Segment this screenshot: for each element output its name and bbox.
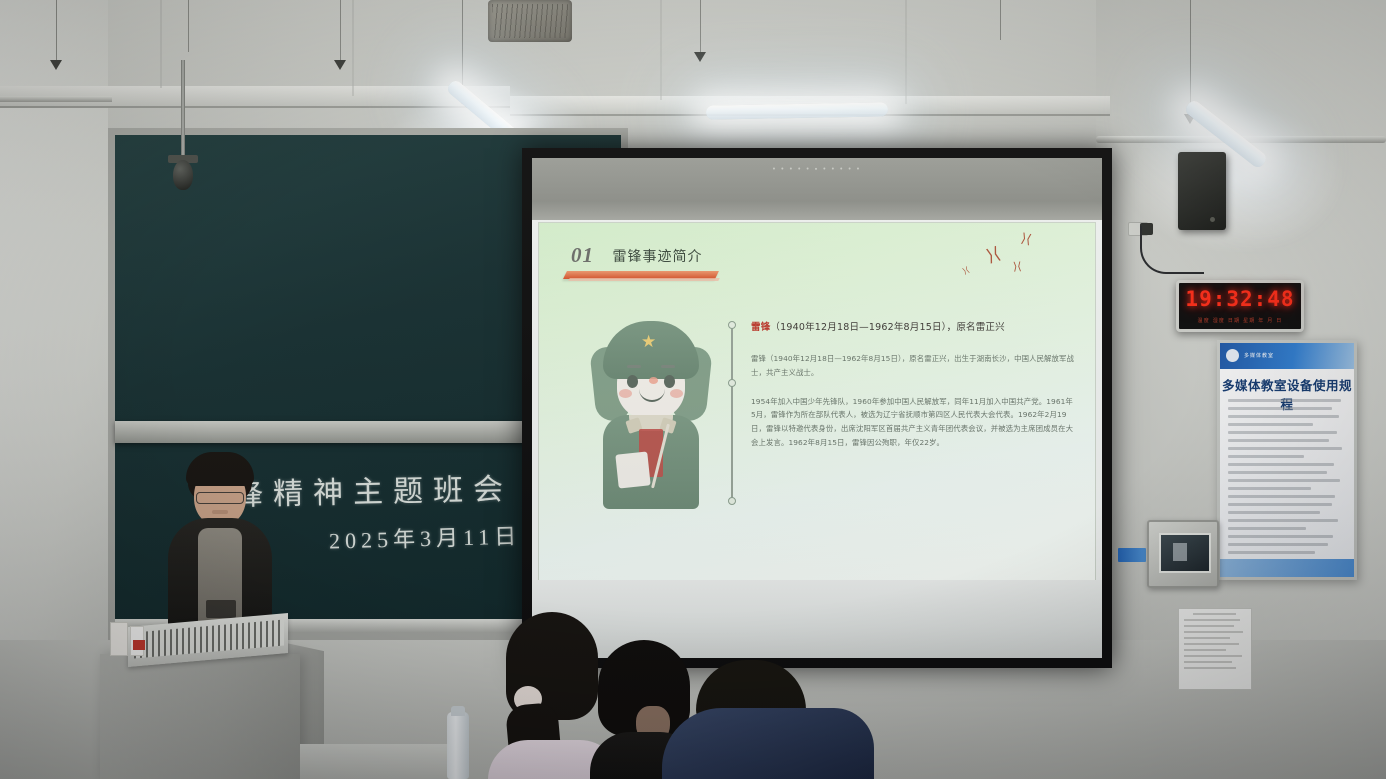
light-wire-2 xyxy=(188,0,189,52)
slide-title-underline-shadow xyxy=(568,278,719,281)
student3-jacket xyxy=(662,708,874,779)
av-control-panel[interactable] xyxy=(1147,520,1219,588)
panel-thumbnail-icon xyxy=(1173,543,1187,561)
eyebrow-right xyxy=(661,365,675,368)
slide-paragraph-2: 1954年加入中国少年先锋队，1960年参加中国人民解放军，同年11月加入中国共… xyxy=(751,395,1075,450)
nose xyxy=(649,377,658,384)
water-bottle-cap xyxy=(451,706,465,716)
red-star-icon: ★ xyxy=(641,333,656,350)
digital-wall-clock: 19:32:48 温度 湿度 日期 星期 年 月 日 xyxy=(1176,280,1304,332)
lead-rest-text: （1940年12月18日—1962年8月15日），原名雷正兴 xyxy=(770,322,1004,333)
slide-lead-line: 雷锋（1940年12月18日—1962年8月15日），原名雷正兴 xyxy=(751,321,1075,335)
speaker-cable xyxy=(1140,226,1204,274)
notebook-page xyxy=(615,451,650,488)
slide-section-number: 01 xyxy=(571,243,594,268)
ceiling-seam-3 xyxy=(660,0,662,100)
poster-org-label: 多媒体教室 xyxy=(1244,352,1274,359)
front-desk-surface xyxy=(300,744,450,779)
lead-highlight-name: 雷锋 xyxy=(751,322,770,333)
clock-subline-display: 温度 湿度 日期 星期 年 月 日 xyxy=(1179,317,1301,324)
projection-screen-frame: • • • • • ▪ • • • • • 01 雷锋事迹简介 ⟩⟨ ⟩⟨ ⟩⟨… xyxy=(522,148,1112,668)
glasses-icon xyxy=(196,492,244,504)
podium-red-label xyxy=(133,640,145,650)
poster-header-band: 多媒体教室 xyxy=(1220,343,1354,369)
wall-notice-sheet xyxy=(1178,608,1252,690)
hanging-microphone xyxy=(173,160,193,190)
water-bottle xyxy=(447,712,469,779)
eye-right xyxy=(664,375,675,388)
blush-right xyxy=(670,389,683,398)
bird-icon-1: ⟩⟨ xyxy=(1020,232,1033,247)
speaker-indicator-dot xyxy=(1210,217,1215,222)
screen-status-strip: • • • • • ▪ • • • • • xyxy=(773,166,861,173)
projection-screen-surface[interactable]: • • • • • ▪ • • • • • 01 雷锋事迹简介 ⟩⟨ ⟩⟨ ⟩⟨… xyxy=(532,158,1102,658)
timeline-node-2 xyxy=(728,379,736,387)
wall-label-tag xyxy=(1118,548,1146,562)
timeline-node-3 xyxy=(728,497,736,505)
wall-conduit-left xyxy=(0,96,112,102)
eye-left xyxy=(627,375,638,388)
fan-blade-grid xyxy=(492,4,568,38)
regulations-poster: 多媒体教室 多媒体教室设备使用规程 xyxy=(1217,340,1357,580)
podium-object-1 xyxy=(110,622,128,656)
slide-section-title: 雷锋事迹简介 xyxy=(612,246,702,266)
ceiling-seam-1 xyxy=(160,0,162,88)
flying-birds-decoration: ⟩⟨ ⟩⟨ ⟩⟨ ⟩⟨ xyxy=(961,231,1061,289)
presentation-slide: 01 雷锋事迹简介 ⟩⟨ ⟩⟨ ⟩⟨ ⟩⟨ ★ xyxy=(538,222,1096,588)
bird-icon-2: ⟩⟨ xyxy=(985,245,1003,265)
tshirt-graphic xyxy=(206,600,236,618)
blush-left xyxy=(619,389,632,398)
ceiling-seam-2 xyxy=(352,0,354,96)
light-wire-3 xyxy=(340,0,341,62)
student-navy-jacket xyxy=(662,660,874,779)
slide-paragraph-1: 雷锋（1940年12月18日—1962年8月15日），原名雷正兴，出生于湖南长沙… xyxy=(751,352,1075,379)
blackboard-date-text: 2025年3月11日 xyxy=(329,518,522,555)
light-wire-6 xyxy=(1000,0,1001,40)
presenter-mouth xyxy=(212,510,228,514)
lectern xyxy=(100,654,300,779)
poster-footer-band xyxy=(1220,559,1354,577)
wall-speaker xyxy=(1178,152,1226,230)
panel-display xyxy=(1159,533,1211,573)
lei-feng-illustration: ★ xyxy=(591,319,711,509)
light-wire-4 xyxy=(462,0,463,96)
clock-time-display: 19:32:48 xyxy=(1179,287,1301,311)
ceiling-fan xyxy=(488,0,572,42)
blackboard-title-text: 锋精神主题班会 xyxy=(233,464,514,514)
classroom-scene: 锋精神主题班会 2025年3月11日 • • • • • ▪ • • • • •… xyxy=(0,0,1386,779)
timeline-node-1 xyxy=(728,321,736,329)
bird-icon-4: ⟩⟨ xyxy=(962,266,971,276)
ceiling-seam-4 xyxy=(905,0,907,104)
presenter-hair-top xyxy=(186,452,254,486)
school-logo-icon xyxy=(1226,349,1239,362)
slide-title-row: 01 雷锋事迹简介 xyxy=(571,243,702,268)
microphone-rod xyxy=(181,60,185,165)
poster-body-text xyxy=(1228,399,1346,559)
light-wire-1 xyxy=(56,0,57,62)
light-wire-5 xyxy=(700,0,701,54)
bird-icon-3: ⟩⟨ xyxy=(1013,261,1022,273)
timeline-line xyxy=(731,323,733,503)
slide-text-block: 雷锋（1940年12月18日—1962年8月15日），原名雷正兴 雷锋（1940… xyxy=(751,321,1075,449)
light-wire-7 xyxy=(1190,0,1191,116)
eyebrow-left xyxy=(627,365,641,368)
